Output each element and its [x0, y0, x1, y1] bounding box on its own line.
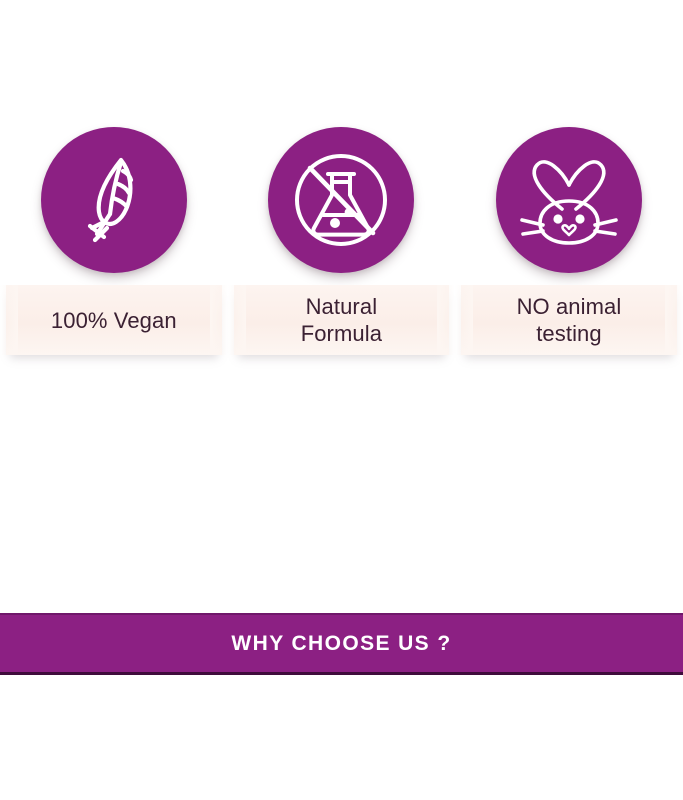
badge-natural-formula[interactable]: Natural Formula — [228, 0, 456, 380]
badge-label: 100% Vegan — [0, 285, 228, 355]
badge-icon-circle — [268, 127, 414, 273]
badge-icon-circle — [41, 127, 187, 273]
why-choose-us-banner[interactable]: WHY CHOOSE US ? — [0, 613, 683, 675]
badge-icon-circle — [496, 127, 642, 273]
feather-icon — [77, 154, 151, 246]
badge-vegan[interactable]: 100% Vegan — [0, 0, 228, 380]
badge-no-animal-testing[interactable]: NO animal testing — [455, 0, 683, 380]
why-choose-us-title: WHY CHOOSE US ? — [231, 632, 451, 656]
no-chemicals-flask-icon — [290, 149, 392, 251]
bunny-no-animal-testing-icon — [516, 149, 622, 251]
badge-label: Natural Formula — [228, 285, 456, 355]
trust-badges-section: 100% Vegan — [0, 0, 683, 380]
badge-label: NO animal testing — [455, 285, 683, 355]
